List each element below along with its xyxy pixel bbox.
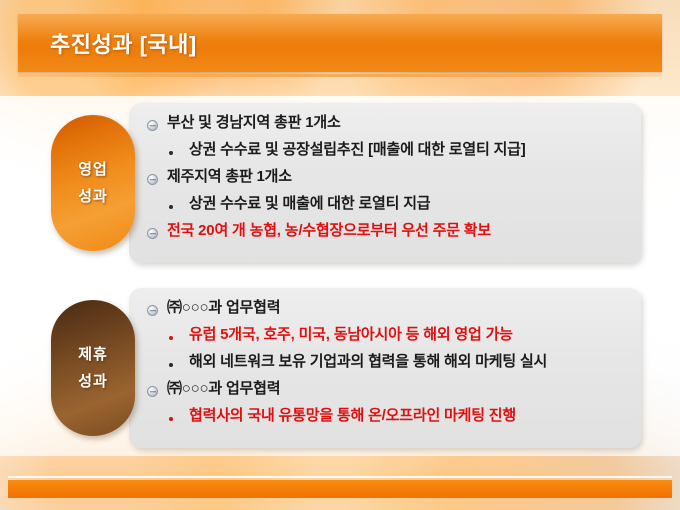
bullet-text: 상권 수수료 및 매출에 대한 로열티 지급	[189, 196, 430, 211]
dot-icon	[169, 417, 173, 421]
bullet-text: 부산 및 경남지역 총판 1개소	[167, 115, 341, 130]
bullet-row: ㈜○○○과 업무협력	[147, 381, 627, 408]
dot-icon	[169, 205, 173, 209]
slide-canvas: 추진성과 [국내] 부산 및 경남지역 총판 1개소상권 수수료 및 공장설립추…	[0, 0, 680, 510]
bullet-text: 협력사의 국내 유통망을 통해 온/오프라인 마케팅 진행	[189, 408, 516, 423]
bullet-text: 해외 네트워크 보유 기업과의 협력을 통해 해외 마케팅 실시	[189, 354, 547, 369]
dash-circle-icon	[147, 228, 158, 239]
bullet-row: 상권 수수료 및 매출에 대한 로열티 지급	[169, 196, 627, 223]
dot-icon	[169, 151, 173, 155]
dot-icon	[169, 336, 173, 340]
bullet-text: ㈜○○○과 업무협력	[167, 300, 280, 315]
badge-label-line1: 제휴	[78, 347, 108, 362]
section-sales: 부산 및 경남지역 총판 1개소상권 수수료 및 공장설립추진 [매출에 대한 …	[45, 103, 641, 263]
bullet-row: 제주지역 총판 1개소	[147, 169, 627, 196]
page-title: 추진성과 [국내]	[50, 27, 197, 59]
dash-circle-icon	[147, 174, 158, 185]
content-panel-alliance: ㈜○○○과 업무협력유럽 5개국, 호주, 미국, 동남아시아 등 해외 영업 …	[129, 288, 641, 448]
section-alliance: ㈜○○○과 업무협력유럽 5개국, 호주, 미국, 동남아시아 등 해외 영업 …	[45, 288, 641, 448]
bullet-text: ㈜○○○과 업무협력	[167, 381, 280, 396]
badge-alliance: 제휴성과	[51, 300, 135, 436]
bullet-text: 유럽 5개국, 호주, 미국, 동남아시아 등 해외 영업 가능	[189, 327, 513, 342]
bullet-row: ㈜○○○과 업무협력	[147, 300, 627, 327]
badge-label-line2: 성과	[78, 189, 108, 204]
bullet-row: 부산 및 경남지역 총판 1개소	[147, 115, 627, 142]
footer-divider	[8, 476, 672, 478]
footer-bar	[8, 480, 672, 498]
content-panel-sales: 부산 및 경남지역 총판 1개소상권 수수료 및 공장설립추진 [매출에 대한 …	[129, 103, 641, 263]
bullet-row: 유럽 5개국, 호주, 미국, 동남아시아 등 해외 영업 가능	[169, 327, 627, 354]
dash-circle-icon	[147, 386, 158, 397]
bullet-row: 협력사의 국내 유통망을 통해 온/오프라인 마케팅 진행	[169, 408, 627, 435]
title-banner: 추진성과 [국내]	[18, 14, 662, 72]
bullet-list-alliance: ㈜○○○과 업무협력유럽 5개국, 호주, 미국, 동남아시아 등 해외 영업 …	[147, 300, 627, 435]
title-underline	[18, 74, 662, 77]
bullet-text: 상권 수수료 및 공장설립추진 [매출에 대한 로열티 지급]	[189, 142, 526, 157]
bullet-list-sales: 부산 및 경남지역 총판 1개소상권 수수료 및 공장설립추진 [매출에 대한 …	[147, 115, 627, 250]
bullet-row: 해외 네트워크 보유 기업과의 협력을 통해 해외 마케팅 실시	[169, 354, 627, 381]
dot-icon	[169, 363, 173, 367]
dash-circle-icon	[147, 305, 158, 316]
bullet-text: 전국 20여 개 농협, 농/수협장으로부터 우선 주문 확보	[167, 223, 491, 238]
bullet-row: 전국 20여 개 농협, 농/수협장으로부터 우선 주문 확보	[147, 223, 627, 250]
dash-circle-icon	[147, 120, 158, 131]
badge-sales: 영업성과	[51, 115, 135, 251]
badge-label-line1: 영업	[78, 162, 108, 177]
bullet-text: 제주지역 총판 1개소	[167, 169, 292, 184]
bullet-row: 상권 수수료 및 공장설립추진 [매출에 대한 로열티 지급]	[169, 142, 627, 169]
badge-label-line2: 성과	[78, 374, 108, 389]
